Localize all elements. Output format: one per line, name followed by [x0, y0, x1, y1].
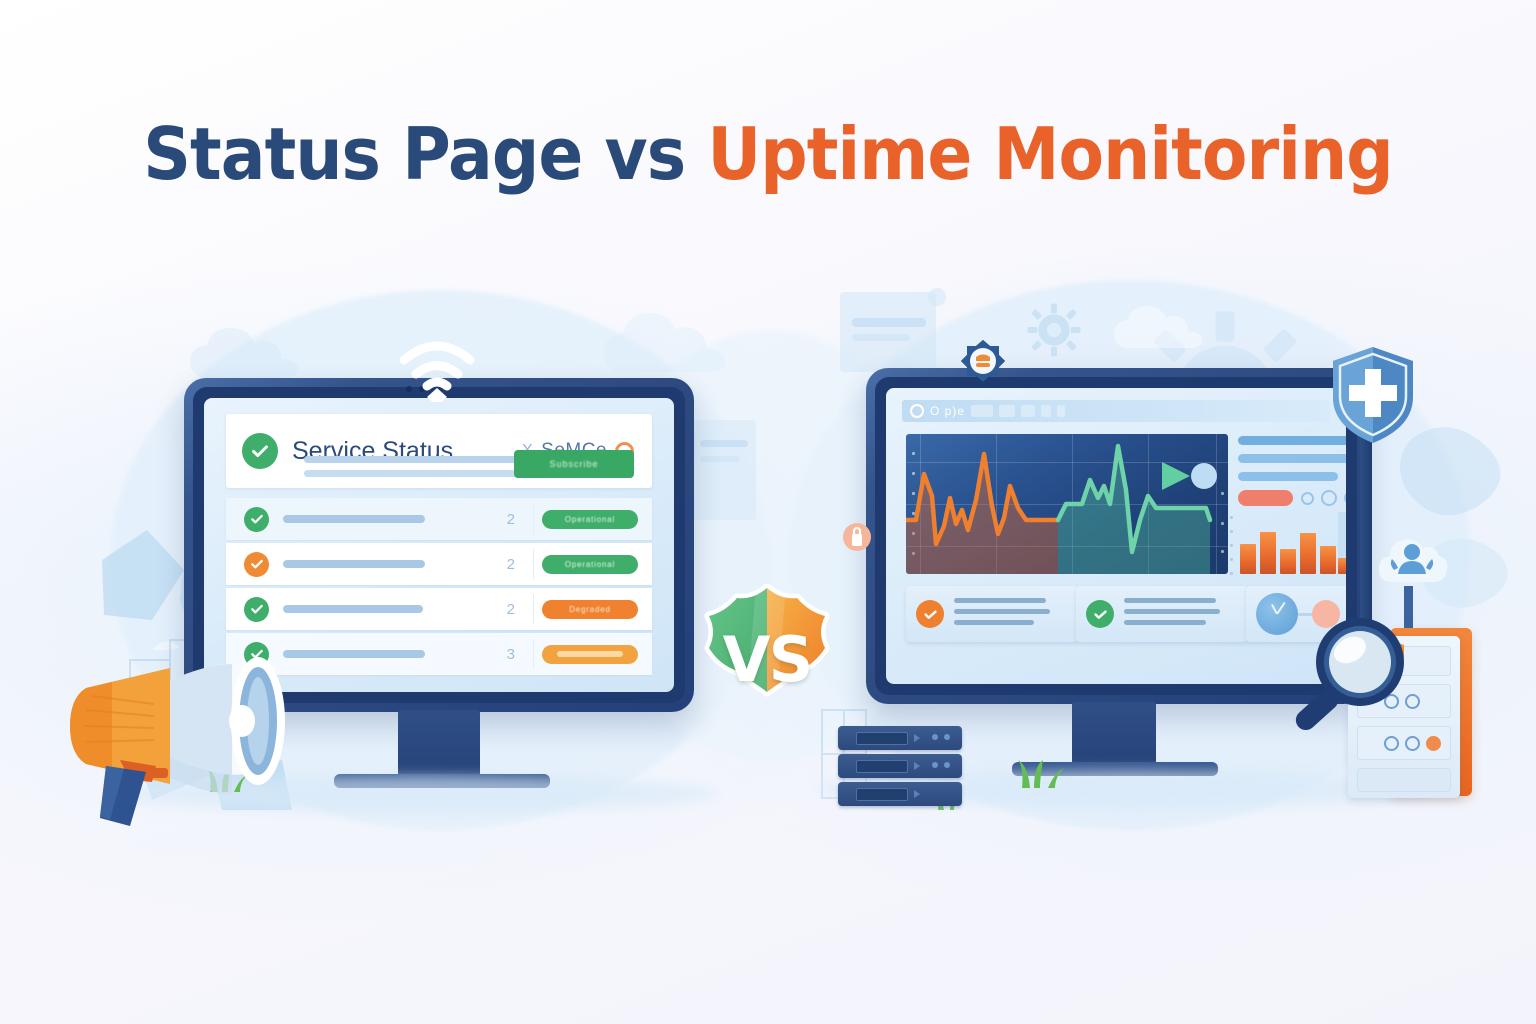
- left-monitor-neck: [398, 710, 480, 776]
- vs-badge-label: VS: [686, 584, 848, 734]
- mini-bar: [1280, 549, 1296, 574]
- status-card-lines: [954, 598, 1068, 631]
- status-card-lines: [1124, 598, 1238, 631]
- status-badge-label: Degraded: [569, 605, 611, 614]
- chart-dot-marker: [1191, 463, 1217, 489]
- row-counter: 3: [507, 646, 515, 663]
- browser-status-dot-icon: [910, 404, 924, 418]
- side-list-highlight: [1238, 490, 1293, 506]
- check-circle-icon: [242, 433, 278, 469]
- row-counter: 2: [507, 511, 515, 528]
- subscribe-button[interactable]: Subscribe: [514, 450, 634, 478]
- row-counter: 2: [507, 601, 515, 618]
- service-status-header: Service Status X SeMCe Subscribe: [226, 414, 652, 488]
- mini-bar: [1300, 533, 1316, 574]
- background-card: [852, 334, 910, 341]
- shield-cross-icon: [1329, 345, 1417, 445]
- mini-bar: [1320, 546, 1336, 574]
- mini-bar-chart: [1238, 506, 1346, 574]
- row-counter: 2: [507, 556, 515, 573]
- megaphone-icon: [62, 636, 324, 826]
- status-badge-label: Operational: [565, 560, 615, 569]
- header-placeholder-lines: [304, 456, 532, 484]
- uptime-chart: [906, 434, 1228, 574]
- title-connector: vs: [582, 112, 707, 196]
- vs-badge: VS: [686, 584, 848, 734]
- status-badge: Operational: [542, 555, 638, 574]
- status-card[interactable]: [906, 586, 1078, 642]
- mini-bar: [1260, 532, 1276, 574]
- mini-bar-axis-ticks: [1230, 512, 1234, 574]
- chart-side-list: [1238, 436, 1346, 506]
- background-card: [700, 440, 748, 447]
- right-screen: O p)e: [886, 388, 1346, 684]
- illustration-canvas: Status Page vs Uptime Monitoring Service…: [0, 0, 1536, 1024]
- background-card: [840, 292, 936, 372]
- subscribe-button-label: Subscribe: [549, 459, 598, 469]
- table-row[interactable]: 2 Degraded: [226, 588, 652, 630]
- cloud-icon: [600, 300, 770, 390]
- status-badge-progress: [557, 651, 623, 657]
- settings-badge-icon: [959, 338, 1007, 384]
- background-card: [852, 318, 926, 327]
- title-part-uptime-monitoring: Uptime Monitoring: [707, 112, 1392, 196]
- check-circle-icon: [244, 507, 269, 532]
- list-item[interactable]: [1357, 768, 1451, 792]
- wifi-icon: [396, 336, 478, 402]
- mini-bar: [1338, 558, 1346, 574]
- status-badge: Operational: [542, 510, 638, 529]
- check-circle-icon: [916, 600, 944, 628]
- cloud-icon: [1110, 300, 1250, 360]
- lock-icon: [843, 520, 871, 554]
- play-marker-icon: [1162, 462, 1190, 490]
- status-card[interactable]: [1076, 586, 1248, 642]
- title-part-status-page: Status Page: [143, 112, 582, 196]
- check-circle-icon: [244, 597, 269, 622]
- status-badge: Degraded: [542, 600, 638, 619]
- browser-url-text: O p)e: [930, 404, 965, 418]
- grass-decoration: [1010, 752, 1072, 788]
- server-unit: [838, 782, 962, 806]
- background-card: [928, 288, 946, 306]
- table-row[interactable]: 2 Operational: [226, 543, 652, 585]
- status-badge: [542, 645, 638, 664]
- table-row[interactable]: 2 Operational: [226, 498, 652, 540]
- gear-icon: [1024, 300, 1084, 360]
- browser-address-bar[interactable]: O p)e: [902, 400, 1330, 422]
- server-unit: [838, 726, 962, 750]
- right-monitor-neck: [1072, 702, 1156, 764]
- background-card: [688, 420, 756, 520]
- status-badge-label: Operational: [565, 515, 615, 524]
- page-title: Status Page vs Uptime Monitoring: [61, 118, 1474, 190]
- check-circle-icon: [1086, 600, 1114, 628]
- side-list-rings: [1301, 490, 1346, 506]
- user-cloud-icon: [1378, 528, 1448, 590]
- check-circle-icon: [244, 552, 269, 577]
- background-card: [700, 456, 740, 462]
- mini-bar: [1240, 544, 1256, 574]
- server-stack-icon: [838, 726, 962, 808]
- server-unit: [838, 754, 962, 778]
- magnifying-glass-icon: [1288, 612, 1410, 740]
